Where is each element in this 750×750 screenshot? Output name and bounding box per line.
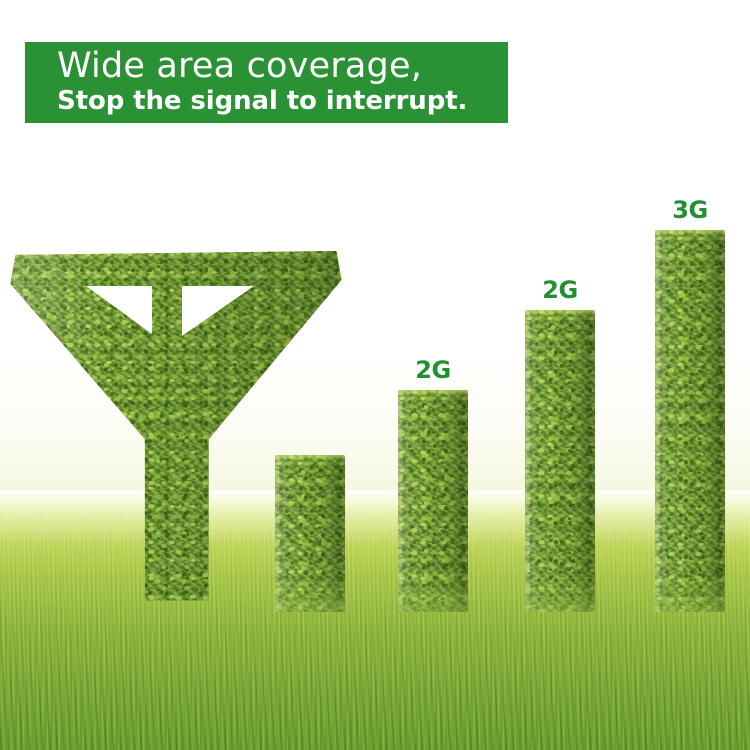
bar-1-base-fade: [275, 572, 345, 612]
poster-image: 2G 2G 3G Wide area coverage, Stop the si…: [0, 0, 750, 750]
bar-2-label: 2G: [393, 356, 473, 384]
grass-tuft-texture: [0, 600, 750, 750]
bar-3-label: 2G: [520, 276, 600, 304]
headline-secondary: Stop the signal to interrupt.: [57, 86, 508, 117]
headline-banner: Wide area coverage, Stop the signal to i…: [25, 42, 508, 123]
headline-primary: Wide area coverage,: [57, 46, 508, 86]
signal-tower-topiary: [0, 228, 345, 612]
topiary-shading: [0, 228, 345, 612]
bar-4-base-fade: [655, 572, 725, 612]
signal-bar-3: [525, 310, 595, 612]
bar-3-base-fade: [525, 572, 595, 612]
signal-bar-4: [655, 230, 725, 612]
bar-2-base-fade: [398, 572, 468, 612]
bar-4-label: 3G: [650, 196, 730, 224]
